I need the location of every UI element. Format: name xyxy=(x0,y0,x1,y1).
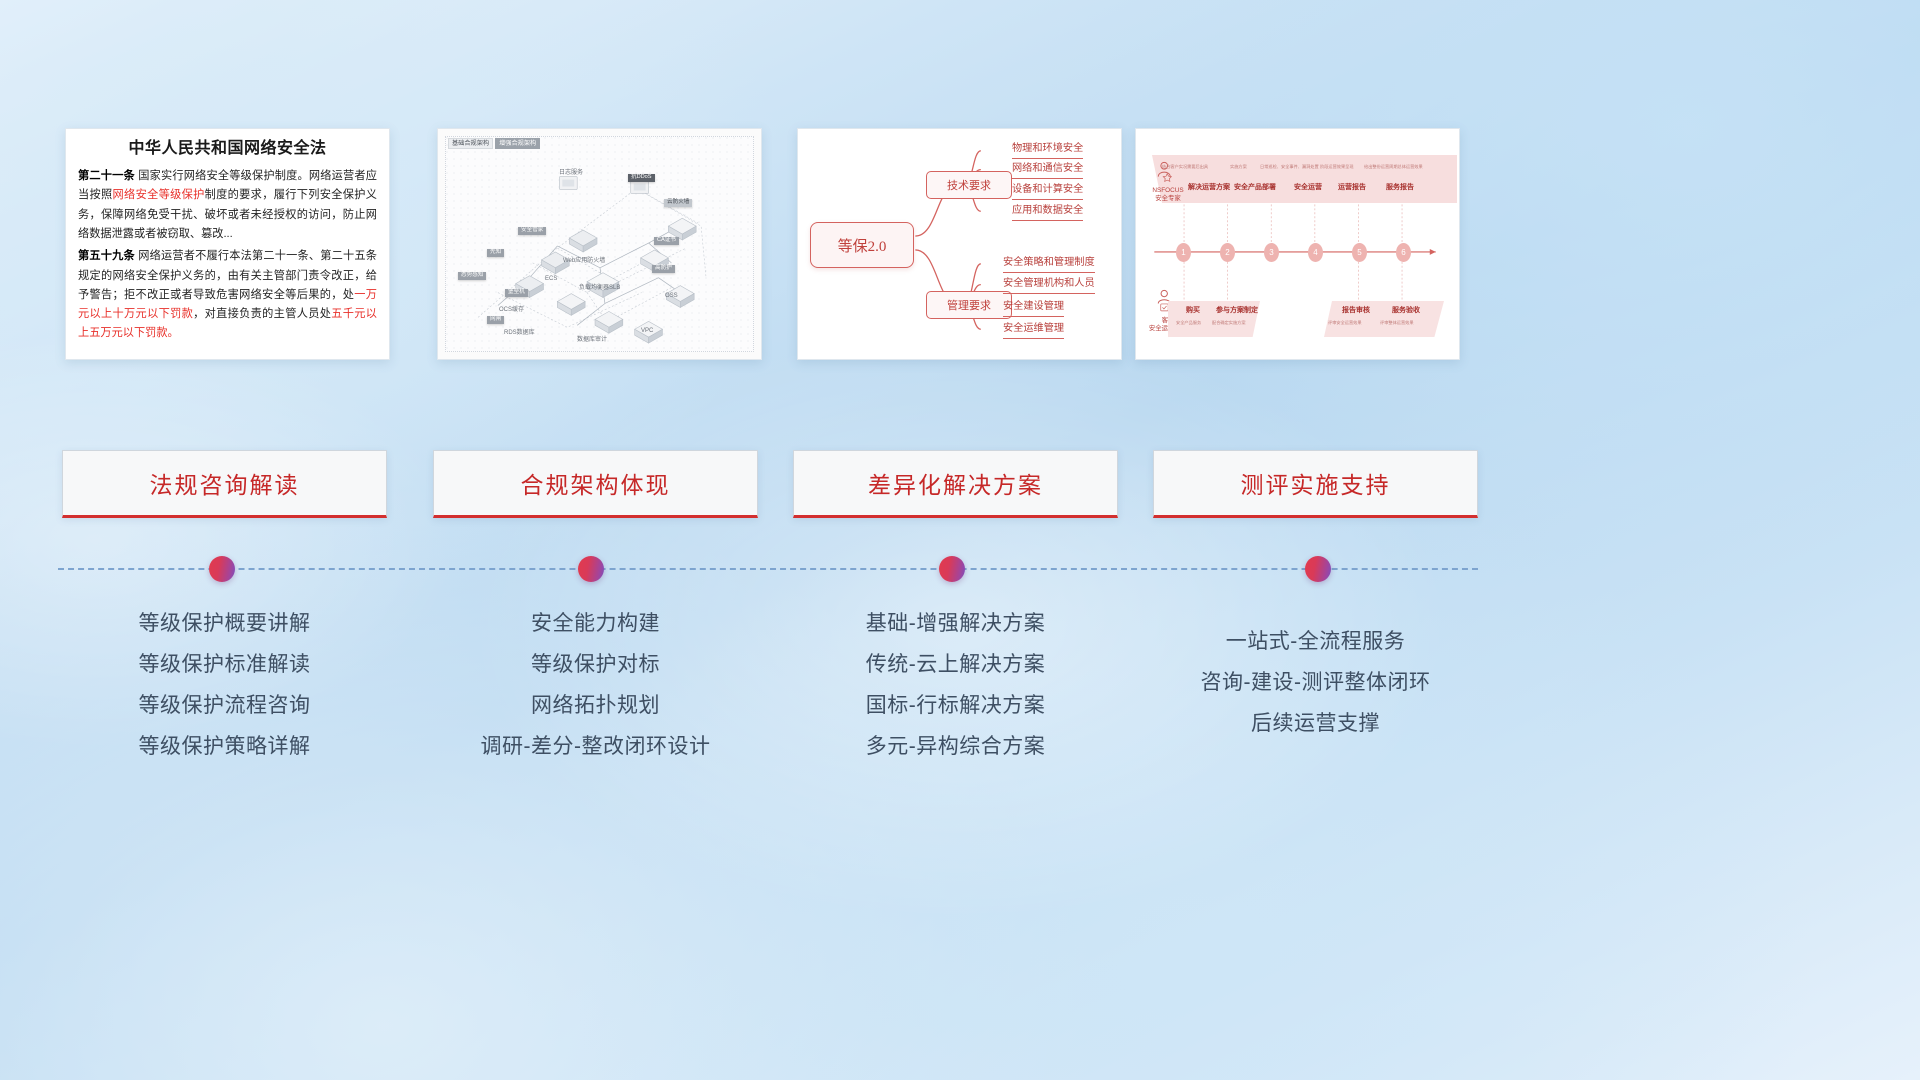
timeline-dot-1[interactable] xyxy=(209,556,235,582)
list-item: 等级保护概要讲解 xyxy=(62,604,387,645)
flow-step-1-sub: 结合客户实况需要后出具 xyxy=(1162,165,1208,169)
mindmap-leaf-application-data: 应用和数据安全 xyxy=(1012,205,1083,221)
law-title: 中华人民共和国网络安全法 xyxy=(78,139,377,158)
architecture-tabs[interactable]: 基础合规架构 增强合规架构 xyxy=(448,138,540,149)
timeline-dot-3[interactable] xyxy=(939,556,965,582)
card-cybersecurity-law[interactable]: 中华人民共和国网络安全法 第二十一条 国家实行网络安全等级保护制度。网络运营者应… xyxy=(65,128,390,360)
flow-role-expert-name: NSFOCUS xyxy=(1152,187,1183,194)
list-item: 传统-云上解决方案 xyxy=(793,645,1118,686)
node-load-balancer-slb: 负载均衡器SLB xyxy=(576,284,623,292)
node-gatekeeper: 网闸 xyxy=(487,316,504,324)
tab-basic-compliance[interactable]: 基础合规架构 xyxy=(448,138,493,149)
node-oss: OSS xyxy=(662,292,681,300)
section-title-4: 测评实施支持 xyxy=(1241,466,1391,500)
mindmap-leaf-org-personnel: 安全管理机构和人员 xyxy=(1003,278,1095,294)
flow-step-1-title: 解决运营方案 xyxy=(1188,184,1230,191)
section-title-1: 法规咨询解读 xyxy=(150,466,300,500)
flow-customer-step-1-sub: 安全产品服务 xyxy=(1176,321,1201,325)
preview-cards-row: 中华人民共和国网络安全法 第二十一条 国家实行网络安全等级保护制度。网络运营者应… xyxy=(0,128,1920,362)
flow-step-number-5: 5 xyxy=(1352,243,1367,262)
node-database-audit: 数据库审计 xyxy=(574,336,610,344)
list-item: 等级保护策略详解 xyxy=(62,727,387,768)
flow-step-number-4: 4 xyxy=(1308,243,1323,262)
list-item: 多元-异构综合方案 xyxy=(793,727,1118,768)
section-list-1: 等级保护概要讲解 等级保护标准解读 等级保护流程咨询 等级保护策略详解 xyxy=(62,604,387,768)
node-bastion-host: 堡垒机 xyxy=(505,289,528,297)
section-list-3: 基础-增强解决方案 传统-云上解决方案 国标-行标解决方案 多元-异构综合方案 xyxy=(793,604,1118,768)
mindmap-leaf-device-compute: 设备和计算安全 xyxy=(1012,184,1083,200)
mindmap-leaf-operation-mgmt: 安全运维管理 xyxy=(1003,323,1064,339)
card-mindmap-dengbao[interactable]: 等保2.0 技术要求 管理要求 物理和环境安全 网络和通信安全 设备和计算安全 … xyxy=(797,128,1122,360)
timeline xyxy=(0,556,1920,582)
list-item: 基础-增强解决方案 xyxy=(793,604,1118,645)
flow-step-number-6: 6 xyxy=(1396,243,1411,262)
node-ca-certificate: CA证书 xyxy=(654,237,679,245)
list-item: 一站式-全流程服务 xyxy=(1153,622,1478,663)
flow-customer-step-2-title: 参与方案制定 xyxy=(1216,307,1258,314)
node-situational-awareness: 态势感知 xyxy=(458,272,486,280)
section-title-box-4[interactable]: 测评实施支持 xyxy=(1153,450,1478,518)
law-article-59: 第五十九条 网络运营者不履行本法第二十一条、第二十五条规定的网络安全保护义务的，… xyxy=(78,247,377,343)
timeline-dot-4[interactable] xyxy=(1305,556,1331,582)
service-flow-inner: NSFOCUS 安全专家 结合客户实况需要后出具 解决运营方案 实施方案 安全产… xyxy=(1142,135,1453,353)
flow-step-3-title: 安全运营 xyxy=(1294,184,1322,191)
flow-step-number-2: 2 xyxy=(1220,243,1235,262)
flow-customer-step-3-sub: 评审安全运营效果 xyxy=(1328,321,1362,325)
node-prophet: 先知 xyxy=(487,249,504,257)
flow-step-5-title: 服务报告 xyxy=(1386,184,1414,191)
mindmap-branch-management: 管理要求 xyxy=(926,291,1012,319)
service-flow-diagram: NSFOCUS 安全专家 结合客户实况需要后出具 解决运营方案 实施方案 安全产… xyxy=(1136,129,1459,359)
architecture-diagram: 基础合规架构 增强合规架构 xyxy=(438,129,761,359)
section-list-4: 一站式-全流程服务 咨询-建设-测评整体闭环 后续运营支撑 xyxy=(1153,604,1478,745)
node-ocs-cache: OCS缓存 xyxy=(496,306,527,314)
flow-customer-step-4-title: 服务验收 xyxy=(1392,307,1420,314)
mindmap-leaf-physical-environment: 物理和环境安全 xyxy=(1012,143,1083,159)
flow-step-5-sub: 给出整份运营周期总体运营效果 xyxy=(1364,165,1423,169)
article-21-label: 第二十一条 xyxy=(78,170,135,182)
node-high-defense: 高防护 xyxy=(652,265,675,273)
mindmap-leaf-construction-mgmt: 安全建设管理 xyxy=(1003,301,1064,317)
page-stage: 中华人民共和国网络安全法 第二十一条 国家实行网络安全等级保护制度。网络运营者应… xyxy=(0,0,1920,1080)
mindmap-branch-technical: 技术要求 xyxy=(926,171,1012,199)
section-title-box-3[interactable]: 差异化解决方案 xyxy=(793,450,1118,518)
law-document: 中华人民共和国网络安全法 第二十一条 国家实行网络安全等级保护制度。网络运营者应… xyxy=(66,129,389,359)
list-item: 等级保护标准解读 xyxy=(62,645,387,686)
tab-enhanced-compliance[interactable]: 增强合规架构 xyxy=(495,138,540,149)
mindmap: 等保2.0 技术要求 管理要求 物理和环境安全 网络和通信安全 设备和计算安全 … xyxy=(798,129,1121,359)
section-title-box-2[interactable]: 合规架构体现 xyxy=(433,450,758,518)
timeline-dashed-line xyxy=(58,568,1478,570)
flow-customer-step-3-title: 报告审核 xyxy=(1342,307,1370,314)
node-cloud-firewall: 云防火墙 xyxy=(664,199,692,207)
card-service-flow[interactable]: NSFOCUS 安全专家 结合客户实况需要后出具 解决运营方案 实施方案 安全产… xyxy=(1135,128,1460,360)
node-log-service: 日志服务 xyxy=(556,169,586,177)
section-title-box-1[interactable]: 法规咨询解读 xyxy=(62,450,387,518)
node-security-butler: 安全管家 xyxy=(518,227,546,235)
list-item: 等级保护对标 xyxy=(433,645,758,686)
card-cloud-architecture[interactable]: 基础合规架构 增强合规架构 xyxy=(437,128,762,360)
law-article-21: 第二十一条 国家实行网络安全等级保护制度。网络运营者应当按照网络安全等级保护制度… xyxy=(78,167,377,244)
mindmap-leaf-policy-system: 安全策略和管理制度 xyxy=(1003,257,1095,273)
node-web-application-firewall: Web应用防火墙 xyxy=(560,257,608,265)
flow-step-2-title: 安全产品部署 xyxy=(1234,184,1276,191)
node-vpc: VPC xyxy=(638,327,656,335)
list-item: 后续运营支撑 xyxy=(1153,704,1478,745)
mindmap-root-node: 等保2.0 xyxy=(810,222,914,268)
list-item: 网络拓扑规划 xyxy=(433,686,758,727)
list-item: 国标-行标解决方案 xyxy=(793,686,1118,727)
article-21-highlight: 网络安全等级保护 xyxy=(113,189,205,201)
node-ecs: ECS xyxy=(542,275,560,283)
flow-step-4-sub: 阶段运营效果呈现 xyxy=(1320,165,1354,169)
flow-step-3-sub: 日常巡检、安全事件、漏洞处置 xyxy=(1260,165,1319,169)
mindmap-leaf-network-communication: 网络和通信安全 xyxy=(1012,163,1083,179)
list-item: 安全能力构建 xyxy=(433,604,758,645)
article-59-text-b: ，对直接负责的主管人员处 xyxy=(193,308,331,320)
article-59-label: 第五十九条 xyxy=(78,250,135,262)
flow-step-number-1: 1 xyxy=(1176,243,1191,262)
section-title-3: 差异化解决方案 xyxy=(868,466,1043,500)
node-rds-database: RDS数据库 xyxy=(501,329,538,337)
flow-step-4-title: 运营报告 xyxy=(1338,184,1366,191)
section-title-2: 合规架构体现 xyxy=(521,466,671,500)
flow-customer-step-1-title: 购买 xyxy=(1186,307,1200,314)
list-item: 调研-差分-整改闭环设计 xyxy=(433,727,758,768)
flow-customer-step-4-sub: 评审整体运营效果 xyxy=(1380,321,1414,325)
list-item: 等级保护流程咨询 xyxy=(62,686,387,727)
architecture-connections xyxy=(438,129,761,359)
list-item: 咨询-建设-测评整体闭环 xyxy=(1153,663,1478,704)
section-list-2: 安全能力构建 等级保护对标 网络拓扑规划 调研-差分-整改闭环设计 xyxy=(433,604,758,768)
section-titles-row: 法规咨询解读 合规架构体现 差异化解决方案 测评实施支持 xyxy=(0,450,1920,520)
flow-customer-step-2-sub: 配合确定实施方案 xyxy=(1212,321,1246,325)
timeline-dot-2[interactable] xyxy=(578,556,604,582)
flow-step-2-sub: 实施方案 xyxy=(1230,165,1247,169)
flow-role-expert: NSFOCUS 安全专家 xyxy=(1148,187,1188,204)
flow-step-number-3: 3 xyxy=(1264,243,1279,262)
flow-role-expert-sub: 安全专家 xyxy=(1155,195,1181,202)
node-anti-ddos: 抗DDoS xyxy=(628,174,655,182)
